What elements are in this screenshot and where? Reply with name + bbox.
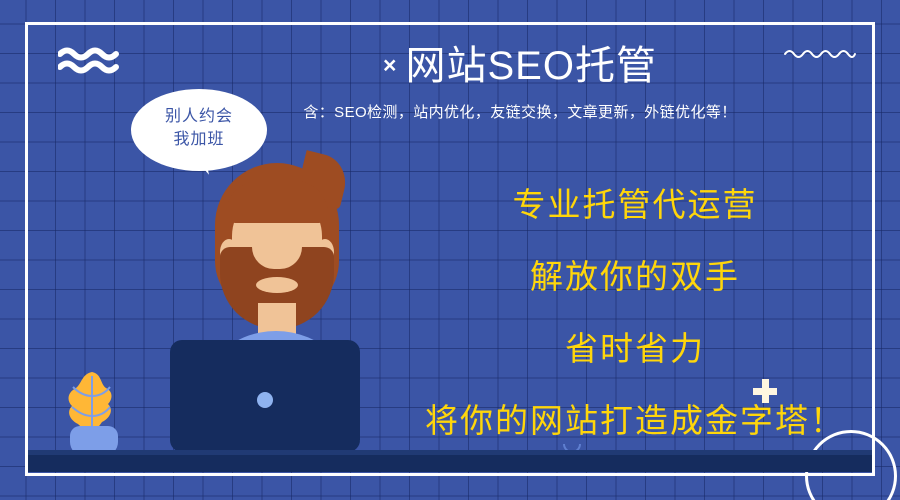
page-subtitle: 含：SEO检测，站内优化，友链交换，文章更新，外链优化等！: [300, 101, 740, 122]
desk-highlight: [28, 450, 872, 455]
laptop-logo-icon: [257, 392, 273, 408]
x-mark-icon: ×: [383, 52, 397, 78]
laptop: [170, 340, 360, 452]
page-title: ×网站SEO托管: [300, 44, 740, 89]
plus-icon: [753, 379, 777, 403]
slogan-line: 专业托管代运营: [400, 188, 870, 221]
single-wave-icon: [783, 47, 857, 66]
double-wave-icon: [58, 46, 120, 79]
title-block: ×网站SEO托管 含：SEO检测，站内优化，友链交换，文章更新，外链优化等！: [300, 44, 740, 122]
speech-bubble-line-1: 别人约会: [131, 106, 267, 129]
slogan-line: 省时省力: [400, 332, 870, 365]
slogan-line: 将你的网站打造成金字塔！: [400, 404, 870, 437]
slogan-line: 解放你的双手: [400, 260, 870, 293]
mouth-shape: [256, 277, 298, 293]
speech-bubble-text: 别人约会 我加班: [131, 89, 267, 151]
title-text: 网站SEO托管: [405, 44, 656, 88]
hair-fringe: [226, 181, 328, 223]
speech-bubble-line-2: 我加班: [131, 129, 267, 152]
seo-hosting-banner: ×网站SEO托管 含：SEO检测，站内优化，友链交换，文章更新，外链优化等！ 专…: [0, 0, 900, 500]
potted-plant: [56, 370, 128, 454]
slogan-list: 专业托管代运营 解放你的双手 省时省力 将你的网站打造成金字塔！: [400, 188, 870, 437]
